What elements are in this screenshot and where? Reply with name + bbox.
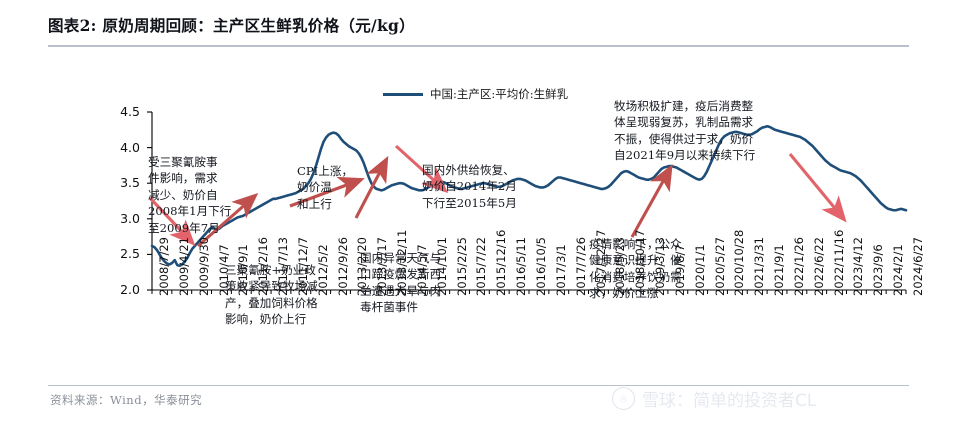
figure-root: 图表2: 原奶周期回顾：主产区生鲜乳价格（元/kg） 中国:主产区:平均价:生鲜…: [0, 0, 956, 430]
y-axis-tick-label: 2.0: [104, 282, 140, 297]
y-axis-tick-label: 4.5: [104, 104, 140, 119]
y-axis-tick-label: 2.5: [104, 246, 140, 261]
snowball-logo-icon: ⌾: [612, 387, 635, 410]
x-axis-tick-label: 2024/2/1: [891, 244, 905, 296]
x-axis-tick-label: 2009/4/21: [177, 237, 191, 296]
chart-svg: [0, 50, 956, 380]
x-axis-tick-label: 2021/9/1: [772, 244, 786, 296]
figure-title-wrap: 图表2: 原奶周期回顾：主产区生鲜乳价格（元/kg）: [48, 14, 908, 48]
x-axis-tick-label: 2015/7/22: [474, 237, 488, 296]
x-axis-tick-label: 2016/10/5: [534, 237, 548, 296]
annotation-supply-tightening-upturn: 三聚氰胺+奶业政 策收紧导致牧场减 产，叠加饲料价格 影响，奶价上行: [225, 262, 371, 328]
page-title: 图表2: 原奶周期回顾：主产区生鲜乳价格（元/kg）: [48, 14, 908, 36]
x-axis-tick-label: 2009/9/30: [197, 237, 211, 296]
x-axis-tick-label: 2015/12/16: [494, 230, 508, 296]
annotation-weather-disease-events: 国内异常天气与 口蹄疫爆发新西 兰遭遇大旱与肉 毒杆菌事件: [360, 250, 468, 316]
annotation-oversupply-persistent-decline: 牧场积极扩建，疫后消费整 体呈现弱复苏，乳制品需求 不振，使得供过于求，奶价 自…: [614, 98, 800, 164]
arrow-pandemic-demand-up: [632, 176, 666, 237]
x-axis-tick-label: 2008/7/29: [157, 237, 171, 296]
x-axis-tick-label: 2017/7/26: [574, 237, 588, 296]
chart-area: 中国:主产区:平均价:生鲜乳: [0, 50, 956, 380]
x-axis-tick-label: 2021/3/31: [752, 237, 766, 296]
x-axis-tick-label: 2023/9/6: [871, 244, 885, 296]
x-axis-tick-label: 2022/6/22: [812, 237, 826, 296]
title-divider: [48, 45, 909, 47]
annotation-supply-recovery-decline: 国内外供给恢复、 奶价自2014年2月 下行至2015年5月: [422, 162, 562, 211]
x-axis-tick-label: 2016/5/11: [514, 237, 528, 296]
annotation-melamine-downturn: 受三聚氰胺事 件影响，需求 减少、奶价自 2008年1月下行 至2009年7月: [148, 154, 272, 236]
x-axis-tick-label: 2023/4/12: [851, 237, 865, 296]
y-axis-tick-label: 4.0: [104, 140, 140, 155]
watermark-text: 雪球：简单的投资者CL: [642, 386, 816, 411]
x-axis-tick-label: 2022/11/16: [832, 230, 846, 296]
y-axis-tick-label: 3.0: [104, 211, 140, 226]
watermark: ⌾ 雪球：简单的投资者CL: [612, 386, 816, 411]
x-axis-tick-label: 2024/6/27: [911, 237, 925, 296]
x-axis-tick-label: 2017/3/1: [554, 244, 568, 296]
annotation-pandemic-health-demand: 疫情影响下，公众 健康意识提升，催 化消费培养饮奶需 求，奶价上涨: [589, 236, 743, 302]
y-axis-tick-label: 3.5: [104, 175, 140, 190]
x-axis-tick-label: 2022/1/26: [792, 237, 806, 296]
source-note: 资料来源：Wind，华泰研究: [50, 392, 202, 408]
annotation-cpi-mild-rise: CPI上涨， 奶价温 和上行: [297, 163, 371, 212]
